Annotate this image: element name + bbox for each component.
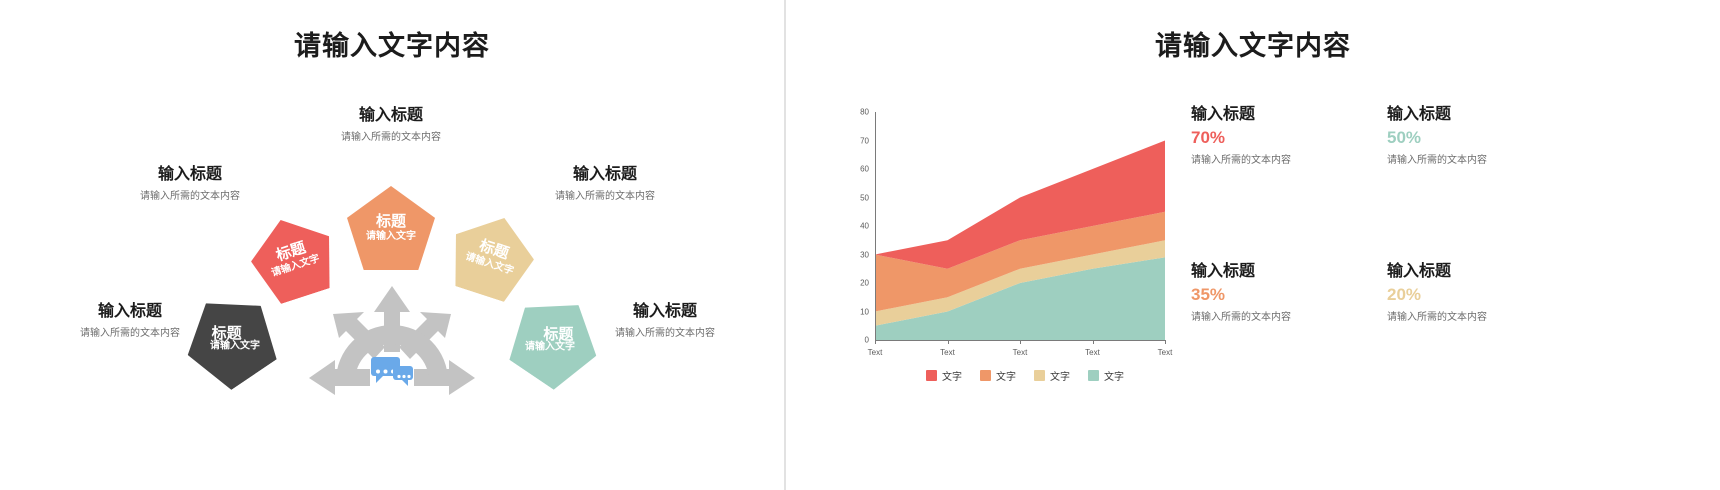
label-upper-left-desc: 请输入所需的文本内容 (70, 191, 310, 203)
chart-legend-label: 文字 (1104, 368, 1124, 383)
chart-legend-label: 文字 (942, 368, 962, 383)
chart-x-tick-label: Text (868, 348, 883, 357)
chart-legend-swatch (926, 370, 937, 381)
chart-y-tick: 20 (860, 279, 869, 288)
chart-y-axis: 01020304050607080 (841, 112, 873, 340)
label-upper-right-title: 输入标题 (485, 165, 725, 184)
stat-card-2-title: 输入标题 (1387, 105, 1617, 124)
chart-legend-item[interactable]: 文字 (1088, 368, 1124, 383)
pentagon-top-sub: 请输入文字 (366, 232, 416, 242)
stat-card-4: 输入标题 20% 请输入所需的文本内容 (1387, 262, 1617, 324)
stat-card-4-desc: 请输入所需的文本内容 (1387, 312, 1617, 324)
right-slide-title: 请输入文字内容 (786, 24, 1720, 63)
right-slide: 请输入文字内容 01020304050607080 TextTextTextTe… (786, 0, 1720, 490)
chart-areas (875, 112, 1165, 340)
stat-card-2-desc: 请输入所需的文本内容 (1387, 155, 1617, 167)
chart-y-tick: 30 (860, 250, 869, 259)
chart-x-tick-label: Text (940, 348, 955, 357)
stat-grid: 输入标题 70% 请输入所需的文本内容 输入标题 50% 请输入所需的文本内容 … (1191, 105, 1711, 355)
chart-x-tick-label: Text (1085, 348, 1100, 357)
label-upper-right: 输入标题 请输入所需的文本内容 (485, 165, 725, 203)
label-lower-right-desc: 请输入所需的文本内容 (555, 328, 775, 340)
chart-y-tick: 80 (860, 108, 869, 117)
chart-x-tick-mark (948, 340, 949, 344)
chart-legend-label: 文字 (1050, 368, 1070, 383)
chart-y-tick: 40 (860, 222, 869, 231)
label-lower-left-desc: 请输入所需的文本内容 (20, 328, 240, 340)
stat-card-4-title: 输入标题 (1387, 262, 1617, 281)
label-lower-left-title: 输入标题 (20, 302, 240, 321)
chart-axis-y-line (875, 112, 876, 340)
label-top: 输入标题 请输入所需的文本内容 (271, 106, 511, 144)
chart-y-tick: 10 (860, 307, 869, 316)
chart-legend: 文字文字文字文字 (875, 368, 1175, 383)
pentagon-top[interactable]: 标题 请输入文字 (347, 186, 435, 270)
chart-x-tick-label: Text (1158, 348, 1173, 357)
label-top-title: 输入标题 (271, 106, 511, 125)
chart-x-tick-mark (1165, 340, 1166, 344)
label-upper-right-desc: 请输入所需的文本内容 (485, 191, 725, 203)
stat-card-2: 输入标题 50% 请输入所需的文本内容 (1387, 105, 1617, 167)
label-lower-left: 输入标题 请输入所需的文本内容 (20, 302, 240, 340)
stat-card-2-value: 50% (1387, 128, 1617, 148)
label-upper-left-title: 输入标题 (70, 165, 310, 184)
chart-legend-item[interactable]: 文字 (926, 368, 962, 383)
chart-x-labels: TextTextTextTextText (875, 348, 1165, 364)
chart-x-tick-label: Text (1013, 348, 1028, 357)
label-upper-left: 输入标题 请输入所需的文本内容 (70, 165, 310, 203)
pentagon-lower-right-sub: 请输入文字 (525, 343, 575, 353)
chart-y-tick: 50 (860, 193, 869, 202)
slide-pair: 请输入文字内容 (0, 0, 1720, 490)
chart-legend-item[interactable]: 文字 (1034, 368, 1070, 383)
stacked-area-chart: 01020304050607080 TextTextTextTextText 文… (841, 112, 1181, 362)
chat-bubble-icon (371, 357, 413, 387)
chart-legend-label: 文字 (996, 368, 1016, 383)
chart-x-tick-mark (1093, 340, 1094, 344)
chart-legend-swatch (1088, 370, 1099, 381)
chart-plot-area (875, 112, 1165, 340)
chart-y-tick: 0 (865, 336, 869, 345)
pentagon-diagram: 标题 请输入文字 标题 请输入文字 标题 请输入文字 标题 请输入文字 (0, 0, 784, 490)
pentagon-top-title: 标题 (376, 214, 406, 230)
label-top-desc: 请输入所需的文本内容 (271, 132, 511, 144)
pentagon-lower-left-sub: 请输入文字 (210, 342, 260, 352)
label-lower-right: 输入标题 请输入所需的文本内容 (555, 302, 775, 340)
chart-legend-item[interactable]: 文字 (980, 368, 1016, 383)
left-slide: 请输入文字内容 (0, 0, 784, 490)
chart-legend-swatch (980, 370, 991, 381)
chart-y-tick: 70 (860, 136, 869, 145)
chart-x-tick-mark (1020, 340, 1021, 344)
label-lower-right-title: 输入标题 (555, 302, 775, 321)
chart-y-tick: 60 (860, 165, 869, 174)
stat-card-4-value: 20% (1387, 285, 1617, 305)
chart-legend-swatch (1034, 370, 1045, 381)
chart-x-tick-mark (875, 340, 876, 344)
